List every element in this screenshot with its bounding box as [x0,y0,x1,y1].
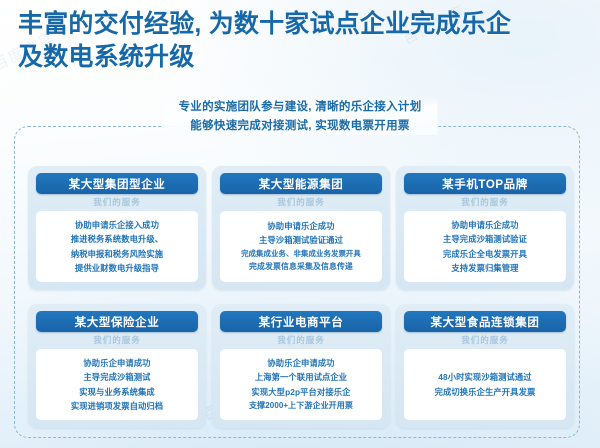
case-card-title: 某行业电商平台 [220,311,382,332]
case-card-label: 我们的服务 [220,194,382,211]
case-card-line: 推进税务系统数电升级、 [41,232,193,246]
case-card-line: 协助申请乐企成功 [225,219,377,233]
case-card-line: 协助申请乐企接入成功 [41,218,193,232]
case-card-body: 48小时实现沙箱测试通过 完成切换乐企生产开具发票 [404,349,566,420]
case-card-body: 协助申请乐企接入成功 推进税务系统数电升级、 纳税申报和税务风险实施 提供业财数… [36,211,198,282]
case-card-title: 某手机TOP品牌 [404,173,566,194]
case-card-title: 某大型保险企业 [36,311,198,332]
case-card-body: 协助乐企申请成功 主导完成沙箱测试 实现与业务系统集成 实现进销项发票自动归档 [36,349,198,420]
case-card[interactable]: 某手机TOP品牌 我们的服务 协助申请乐企成功 主导完成沙箱测试验证 完成乐企全… [396,166,574,290]
case-card-line: 主导沙箱测试验证通过 [225,233,377,247]
case-card-label: 我们的服务 [36,194,198,211]
case-card-line: 完成集成业务、非集成业务发票开具 [225,248,377,261]
slide-canvas: 百度文库 百度文库 百度文库 百度文库 百度文库 百度文库 丰富的交付经验, 为… [0,0,600,448]
case-card-line: 协助申请乐企成功 [409,218,561,232]
case-card-label: 我们的服务 [404,332,566,349]
case-card-line: 完成切换乐企生产开具发票 [409,385,561,399]
case-card-line: 主导完成沙箱测试 [41,370,193,384]
case-card-line: 提供业财数电升级指导 [41,261,193,275]
case-card-line: 支持发票归集管理 [409,261,561,275]
case-card[interactable]: 某大型保险企业 我们的服务 协助乐企申请成功 主导完成沙箱测试 实现与业务系统集… [28,304,206,428]
page-title-line-1: 丰富的交付经验, 为数十家试点企业完成乐企 [18,8,584,41]
case-card-label: 我们的服务 [36,332,198,349]
case-card-line: 完成乐企全电发票开具 [409,247,561,261]
page-title-line-2: 及数电系统升级 [18,41,584,74]
case-card-line: 48小时实现沙箱测试通过 [409,370,561,384]
case-card-body: 协助乐企申请成功 上海第一个联用试点企业 实现大型p2p平台对接乐企 支撑200… [220,349,382,420]
case-card-line: 主导完成沙箱测试验证 [409,232,561,246]
case-card[interactable]: 某大型集团型企业 我们的服务 协助申请乐企接入成功 推进税务系统数电升级、 纳税… [28,166,206,290]
case-card-line: 支撑2000+上下游企业开用票 [225,399,377,413]
case-card[interactable]: 某大型食品连锁集团 我们的服务 48小时实现沙箱测试通过 完成切换乐企生产开具发… [396,304,574,428]
subtitle-line-2: 能够快速完成对接测试, 实现数电票开用票 [179,117,422,136]
case-card-line: 上海第一个联用试点企业 [225,370,377,384]
case-card-label: 我们的服务 [404,194,566,211]
case-card-title: 某大型集团型企业 [36,173,198,194]
subtitle-line-1: 专业的实施团队参与建设, 清晰的乐企接入计划 [179,98,422,117]
case-card[interactable]: 某大型能源集团 我们的服务 协助申请乐企成功 主导沙箱测试验证通过 完成集成业务… [212,166,390,290]
case-card-line: 实现进销项发票自动归档 [41,399,193,413]
case-card-line: 纳税申报和税务风险实施 [41,247,193,261]
case-card-line: 实现大型p2p平台对接乐企 [225,385,377,399]
case-card[interactable]: 某行业电商平台 我们的服务 协助乐企申请成功 上海第一个联用试点企业 实现大型p… [212,304,390,428]
case-card-label: 我们的服务 [220,332,382,349]
case-card-line: 协助乐企申请成功 [41,356,193,370]
subtitle: 专业的实施团队参与建设, 清晰的乐企接入计划 能够快速完成对接测试, 实现数电票… [163,98,438,135]
case-card-title: 某大型食品连锁集团 [404,311,566,332]
case-card-line: 协助乐企申请成功 [225,356,377,370]
case-card-title: 某大型能源集团 [220,173,382,194]
case-card-body: 协助申请乐企成功 主导完成沙箱测试验证 完成乐企全电发票开具 支持发票归集管理 [404,211,566,282]
page-title: 丰富的交付经验, 为数十家试点企业完成乐企 及数电系统升级 [18,8,584,74]
case-card-line: 完成发票信息采集及信息传递 [225,260,377,274]
case-card-line: 实现与业务系统集成 [41,385,193,399]
case-card-body: 协助申请乐企成功 主导沙箱测试验证通过 完成集成业务、非集成业务发票开具 完成发… [220,211,382,282]
case-card-grid: 某大型集团型企业 我们的服务 协助申请乐企接入成功 推进税务系统数电升级、 纳税… [28,166,574,428]
